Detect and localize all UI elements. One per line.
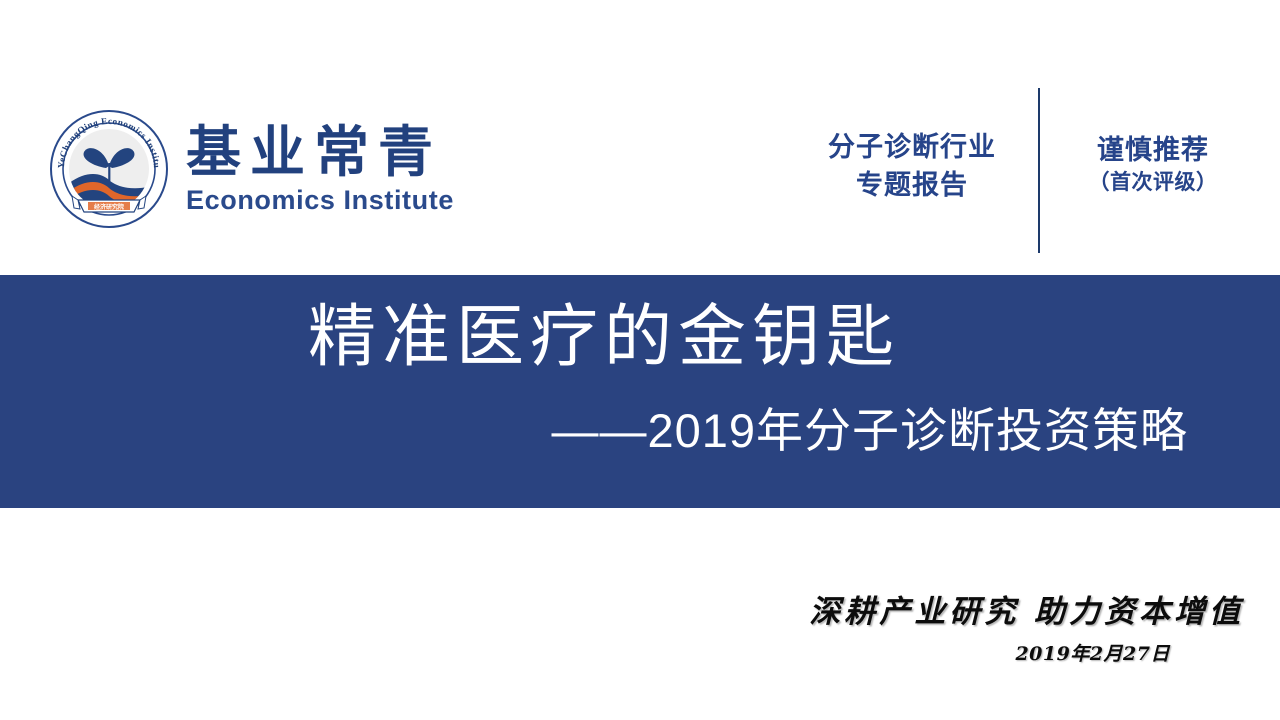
rating-note: （首次评级）	[1058, 169, 1248, 196]
svg-text:经济研究院: 经济研究院	[94, 203, 124, 211]
institute-logo-icon: JiYeChangQing Economics Institute 基 业 常 …	[48, 108, 170, 230]
company-slogan: 深耕产业研究 助力资本增值	[809, 586, 1244, 631]
publication-date: 2019年2月27日	[1015, 639, 1170, 666]
report-category-line-2: 专题报告	[800, 166, 1024, 204]
rating-value: 谨慎推荐	[1058, 134, 1248, 167]
slide-main-title: 精准医疗的金钥匙	[308, 303, 900, 371]
brand-name-cn: 基业常青	[186, 124, 454, 182]
slide-header: JiYeChangQing Economics Institute 基 业 常 …	[0, 0, 1280, 275]
header-vertical-divider	[1038, 88, 1040, 253]
brand-name-en: Economics Institute	[186, 184, 454, 216]
slide-footer: 深耕产业研究 助力资本增值 2019年2月27日	[0, 508, 1280, 720]
slide-subtitle: ——2019年分子诊断投资策略	[0, 405, 1188, 457]
report-category-line-1: 分子诊断行业	[800, 128, 1024, 166]
report-category-label: 分子诊断行业 专题报告	[800, 128, 1024, 205]
brand-text: 基业常青 Economics Institute	[186, 122, 454, 217]
title-slide: JiYeChangQing Economics Institute 基 业 常 …	[0, 0, 1280, 720]
brand-lockup: JiYeChangQing Economics Institute 基 业 常 …	[48, 108, 454, 230]
rating-block: 谨慎推荐 （首次评级）	[1058, 134, 1248, 196]
